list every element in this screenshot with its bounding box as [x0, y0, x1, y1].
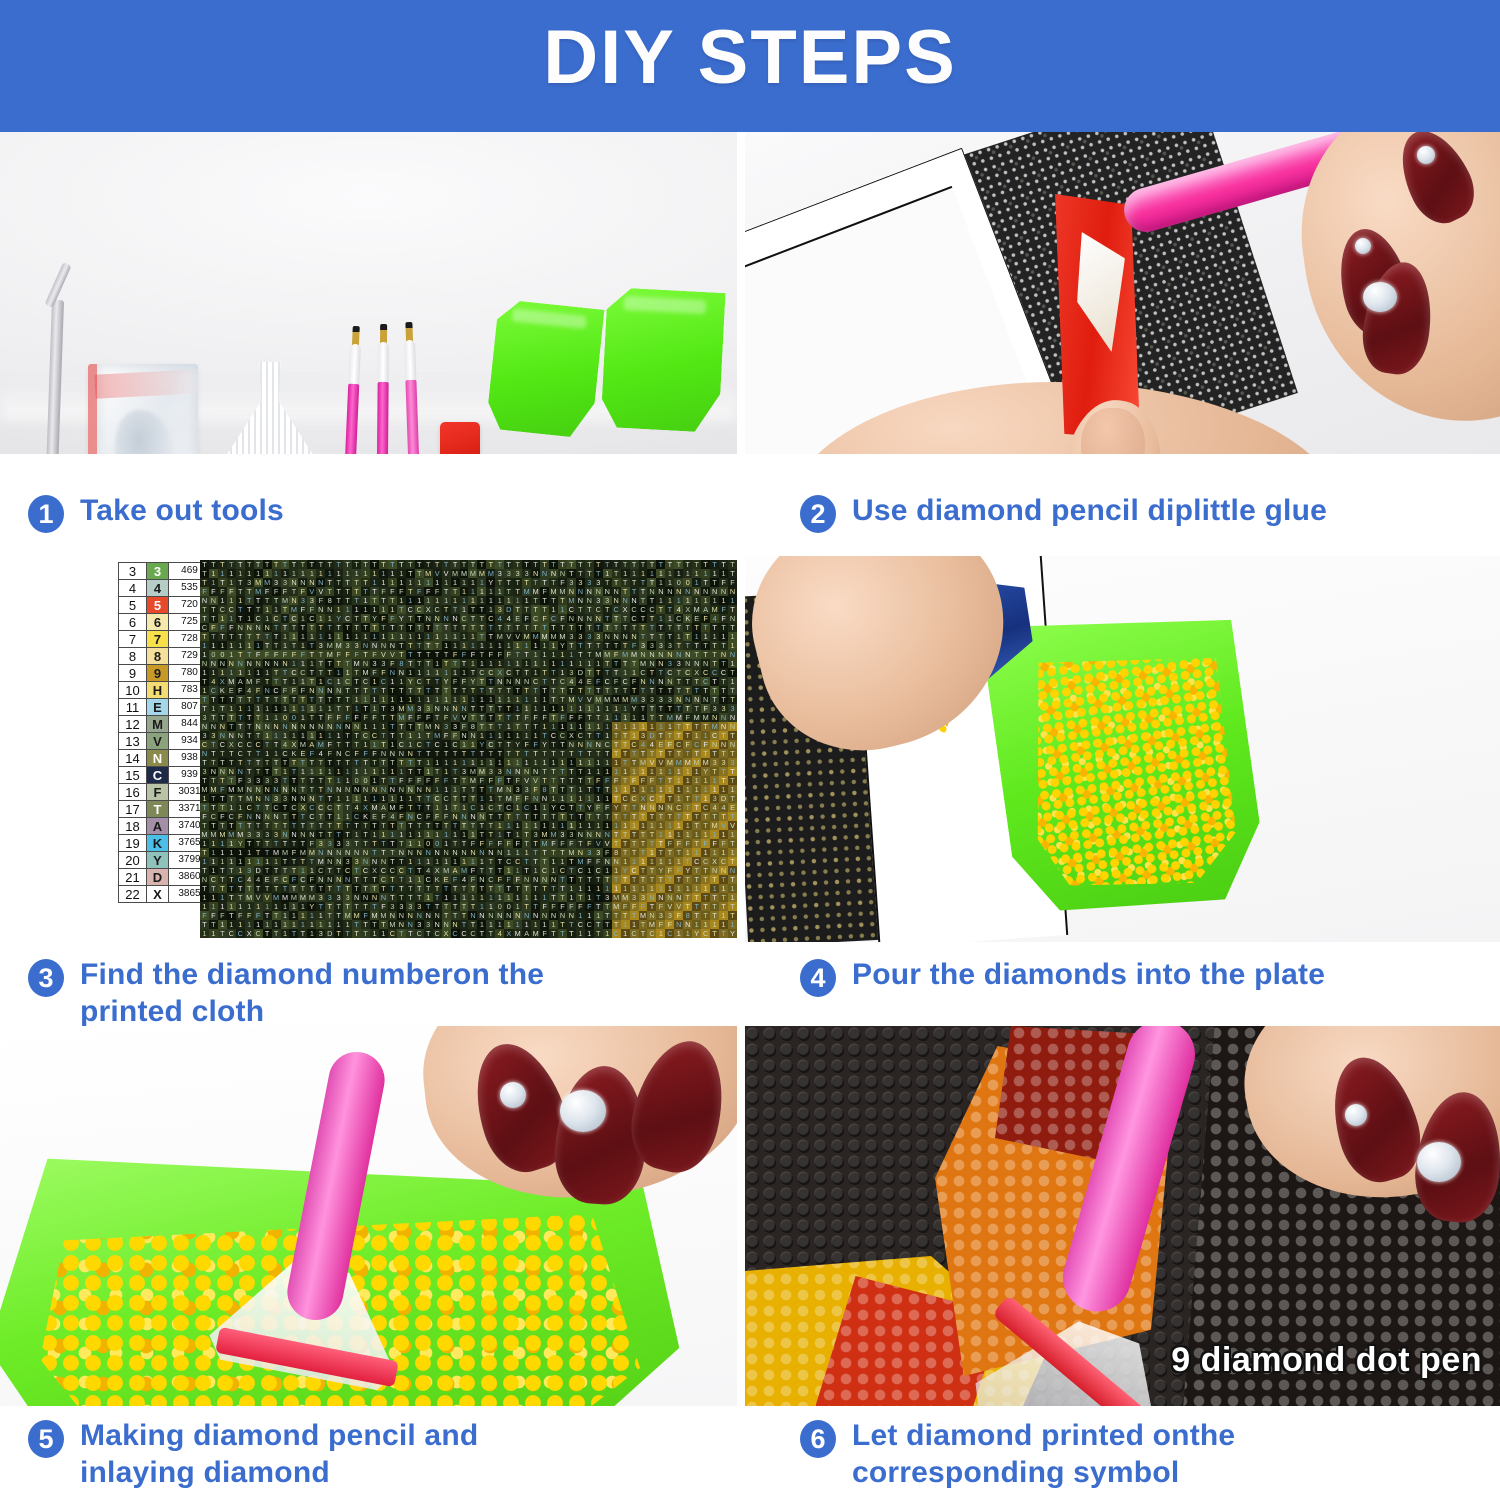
symbol-cell: F	[218, 812, 227, 821]
symbol-cell: 1	[701, 920, 710, 929]
legend-row: 88729	[119, 648, 211, 665]
symbol-cell: 3	[209, 731, 218, 740]
symbol-cell: 1	[379, 632, 388, 641]
symbol-cell: N	[263, 623, 272, 632]
symbol-cell: K	[683, 614, 692, 623]
symbol-cell: F	[665, 866, 674, 875]
symbol-cell: 1	[674, 830, 683, 839]
symbol-cell: Y	[486, 578, 495, 587]
symbol-cell: 1	[361, 695, 370, 704]
step-6-badge: 6	[800, 1420, 836, 1458]
symbol-cell: 4	[254, 875, 263, 884]
symbol-cell: T	[495, 803, 504, 812]
symbol-cell: 1	[254, 704, 263, 713]
symbol-cell: 1	[576, 911, 585, 920]
symbol-cell: C	[209, 875, 218, 884]
symbol-cell: T	[594, 569, 603, 578]
symbol-cell: M	[245, 893, 254, 902]
symbol-cell: C	[665, 929, 674, 938]
symbol-cell: T	[281, 812, 290, 821]
symbol-cell: 1	[451, 596, 460, 605]
symbol-cell: N	[647, 803, 656, 812]
symbol-cell: T	[415, 641, 424, 650]
symbol-cell: T	[495, 749, 504, 758]
symbol-cell: 1	[558, 821, 567, 830]
symbol-cell: C	[236, 929, 245, 938]
symbol-cell: T	[343, 740, 352, 749]
symbol-cell: F	[451, 731, 460, 740]
symbol-cell: 3	[567, 668, 576, 677]
symbol-cell: F	[639, 776, 648, 785]
symbol-cell: T	[728, 668, 737, 677]
symbol-cell: 1	[263, 857, 272, 866]
symbol-cell: T	[272, 884, 281, 893]
symbol-cell: T	[433, 641, 442, 650]
symbol-cell: N	[218, 659, 227, 668]
symbol-cell: 1	[334, 731, 343, 740]
symbol-cell: C	[415, 812, 424, 821]
symbol-cell: T	[379, 623, 388, 632]
symbol-cell: 1	[647, 785, 656, 794]
symbol-cell: M	[379, 911, 388, 920]
symbol-cell: N	[263, 794, 272, 803]
symbol-cell: T	[531, 686, 540, 695]
symbol-cell: C	[486, 668, 495, 677]
symbol-cell: T	[531, 596, 540, 605]
symbol-cell: F	[665, 839, 674, 848]
symbol-cell: N	[612, 596, 621, 605]
symbol-cell: T	[316, 830, 325, 839]
symbol-cell: T	[630, 578, 639, 587]
symbol-cell: 1	[415, 596, 424, 605]
symbol-cell: 1	[522, 821, 531, 830]
symbol-cell: 4	[567, 677, 576, 686]
symbol-cell: 1	[415, 632, 424, 641]
symbol-cell: T	[513, 560, 522, 569]
symbol-cell: F	[397, 812, 406, 821]
symbol-cell: N	[227, 659, 236, 668]
symbol-cell: T	[218, 578, 227, 587]
symbol-cell: 1	[352, 704, 361, 713]
symbol-cell: C	[594, 605, 603, 614]
symbol-cell: T	[647, 866, 656, 875]
symbol-cell: M	[639, 911, 648, 920]
symbol-cell: 1	[522, 596, 531, 605]
symbol-cell: T	[486, 677, 495, 686]
symbol-cell: T	[316, 884, 325, 893]
symbol-cell: F	[388, 614, 397, 623]
symbol-cell: 1	[585, 794, 594, 803]
symbol-cell: 1	[451, 758, 460, 767]
symbol-cell: 1	[719, 785, 728, 794]
symbol-cell: F	[621, 902, 630, 911]
symbol-cell: 1	[710, 920, 719, 929]
legend-index: 6	[119, 614, 147, 631]
symbol-cell: T	[486, 623, 495, 632]
symbol-cell: T	[674, 848, 683, 857]
symbol-cell: 1	[343, 794, 352, 803]
symbol-cell: T	[647, 839, 656, 848]
symbol-cell: 1	[513, 641, 522, 650]
symbol-cell: T	[612, 569, 621, 578]
symbol-cell: 3	[388, 704, 397, 713]
symbol-cell: T	[647, 830, 656, 839]
symbol-cell: T	[656, 560, 665, 569]
symbol-cell: 1	[630, 821, 639, 830]
symbol-cell: N	[263, 722, 272, 731]
symbol-cell: T	[710, 641, 719, 650]
symbol-cell: C	[289, 614, 298, 623]
symbol-cell: T	[245, 587, 254, 596]
symbol-cell: 1	[719, 596, 728, 605]
symbol-cell: 3	[603, 893, 612, 902]
symbol-cell: 1	[334, 569, 343, 578]
legend-row: 44535	[119, 580, 211, 597]
symbol-cell: C	[200, 623, 209, 632]
symbol-cell: C	[397, 740, 406, 749]
symbol-cell: 1	[379, 794, 388, 803]
symbol-cell: C	[701, 929, 710, 938]
symbol-cell: M	[370, 911, 379, 920]
symbol-cell: T	[522, 560, 531, 569]
symbol-cell: 1	[513, 803, 522, 812]
symbol-cell: M	[612, 893, 621, 902]
symbol-cell: 1	[710, 848, 719, 857]
symbol-cell: F	[415, 587, 424, 596]
symbol-cell: 1	[719, 830, 728, 839]
symbol-cell: 4	[245, 875, 254, 884]
legend-symbol-swatch: D	[147, 869, 169, 886]
symbol-cell: T	[325, 794, 334, 803]
symbol-cell: N	[325, 686, 334, 695]
symbol-cell: C	[665, 668, 674, 677]
symbol-cell: 1	[585, 722, 594, 731]
symbol-cell: T	[468, 785, 477, 794]
symbol-cell: T	[540, 686, 549, 695]
symbol-cell: T	[549, 776, 558, 785]
symbol-cell: T	[683, 902, 692, 911]
symbol-cell: N	[486, 848, 495, 857]
legend-index: 20	[119, 852, 147, 869]
symbol-cell: T	[531, 749, 540, 758]
symbol-cell: T	[513, 722, 522, 731]
symbol-cell: T	[522, 623, 531, 632]
symbol-cell: T	[710, 749, 719, 758]
symbol-cell: T	[576, 812, 585, 821]
symbol-cell: N	[486, 911, 495, 920]
symbol-cell: T	[406, 929, 415, 938]
symbol-cell: N	[468, 812, 477, 821]
symbol-cell: F	[298, 650, 307, 659]
symbol-cell: F	[236, 686, 245, 695]
symbol-cell: T	[567, 875, 576, 884]
symbol-cell: T	[513, 605, 522, 614]
symbol-cell: 1	[307, 659, 316, 668]
symbol-cell: F	[477, 839, 486, 848]
symbol-cell: T	[683, 686, 692, 695]
symbol-cell: 1	[621, 920, 630, 929]
symbol-cell: T	[272, 632, 281, 641]
symbol-cell: 1	[504, 722, 513, 731]
symbol-cell: 1	[630, 668, 639, 677]
symbol-cell: 1	[460, 596, 469, 605]
symbol-cell: T	[567, 929, 576, 938]
symbol-cell: X	[692, 668, 701, 677]
legend-symbol-swatch: A	[147, 818, 169, 835]
symbol-cell: 1	[504, 821, 513, 830]
symbol-cell: M	[433, 731, 442, 740]
symbol-cell: 1	[379, 767, 388, 776]
symbol-cell: 3	[281, 794, 290, 803]
symbol-cell: T	[263, 866, 272, 875]
symbol-cell: 1	[460, 587, 469, 596]
symbol-cell: T	[567, 623, 576, 632]
symbol-cell: T	[692, 794, 701, 803]
symbol-cell: 1	[298, 677, 307, 686]
symbol-cell: 1	[522, 704, 531, 713]
symbol-cell: N	[236, 623, 245, 632]
symbol-cell: T	[639, 839, 648, 848]
symbol-cell: T	[692, 902, 701, 911]
symbol-cell: V	[379, 650, 388, 659]
symbol-cell: N	[325, 857, 334, 866]
symbol-cell: T	[486, 830, 495, 839]
symbol-cell: 1	[361, 722, 370, 731]
symbol-cell: 1	[674, 821, 683, 830]
legend-index: 17	[119, 801, 147, 818]
symbol-cell: 3	[424, 920, 433, 929]
symbol-cell: T	[406, 623, 415, 632]
symbol-cell: 1	[424, 596, 433, 605]
symbol-cell: T	[388, 686, 397, 695]
symbol-cell: N	[442, 920, 451, 929]
symbol-cell: N	[388, 785, 397, 794]
symbol-cell: N	[424, 785, 433, 794]
symbol-cell: T	[451, 884, 460, 893]
symbol-cell: T	[236, 632, 245, 641]
symbol-cell: T	[424, 929, 433, 938]
symbol-cell: T	[603, 749, 612, 758]
symbol-cell: 1	[397, 569, 406, 578]
symbol-cell: F	[352, 650, 361, 659]
symbol-cell: T	[272, 623, 281, 632]
symbol-cell: 1	[468, 641, 477, 650]
symbol-cell: 1	[442, 641, 451, 650]
symbol-cell: T	[289, 857, 298, 866]
symbol-cell: 1	[227, 839, 236, 848]
symbol-cell: N	[254, 659, 263, 668]
symbol-cell: T	[647, 623, 656, 632]
symbol-cell: T	[424, 623, 433, 632]
step-3-badge: 3	[28, 959, 64, 997]
symbol-cell: C	[218, 605, 227, 614]
symbol-cell: T	[630, 587, 639, 596]
symbol-cell: T	[352, 587, 361, 596]
step-6-text: Let diamond printed onthe corresponding …	[852, 1418, 1235, 1491]
symbol-cell: N	[245, 659, 254, 668]
symbol-cell: C	[415, 677, 424, 686]
symbol-cell: F	[656, 902, 665, 911]
symbol-cell: N	[397, 749, 406, 758]
symbol-cell: T	[415, 866, 424, 875]
symbol-cell: T	[603, 911, 612, 920]
symbol-cell: F	[567, 902, 576, 911]
symbol-cell: N	[307, 722, 316, 731]
symbol-cell: 1	[486, 902, 495, 911]
symbol-cell: T	[558, 560, 567, 569]
symbol-cell: T	[227, 722, 236, 731]
symbol-cell: T	[433, 884, 442, 893]
symbol-cell: 1	[352, 767, 361, 776]
symbol-cell: C	[558, 731, 567, 740]
symbol-cell: C	[701, 668, 710, 677]
symbol-cell: T	[531, 839, 540, 848]
symbol-cell: M	[674, 713, 683, 722]
symbol-cell: M	[442, 866, 451, 875]
symbol-cell: 1	[656, 569, 665, 578]
symbol-cell: N	[388, 911, 397, 920]
symbol-cell: Y	[468, 677, 477, 686]
symbol-cell: M	[549, 632, 558, 641]
symbol-cell: C	[647, 929, 656, 938]
symbol-cell: M	[567, 596, 576, 605]
symbol-cell: 3	[567, 632, 576, 641]
symbol-cell: T	[397, 623, 406, 632]
symbol-cell: T	[307, 713, 316, 722]
symbol-cell: T	[558, 848, 567, 857]
symbol-cell: 3	[656, 695, 665, 704]
symbol-cell: T	[379, 758, 388, 767]
symbol-cell: 1	[504, 731, 513, 740]
symbol-cell: T	[334, 560, 343, 569]
step-1-badge: 1	[28, 495, 64, 533]
symbol-cell: F	[218, 785, 227, 794]
symbol-cell: 1	[352, 605, 361, 614]
symbol-cell: N	[683, 920, 692, 929]
symbol-cell: T	[513, 650, 522, 659]
symbol-cell: C	[567, 605, 576, 614]
symbol-cell: 1	[209, 578, 218, 587]
symbol-cell: T	[692, 893, 701, 902]
symbol-cell: N	[468, 848, 477, 857]
symbol-cell: F	[433, 812, 442, 821]
symbol-cell: T	[298, 929, 307, 938]
symbol-cell: 1	[728, 830, 737, 839]
legend-index: 10	[119, 682, 147, 699]
symbol-cell: M	[289, 605, 298, 614]
symbol-cell: N	[218, 722, 227, 731]
symbol-cell: E	[442, 875, 451, 884]
symbol-cell: T	[576, 893, 585, 902]
symbol-cell: 3	[719, 758, 728, 767]
symbol-cell: T	[460, 560, 469, 569]
symbol-cell: 1	[397, 578, 406, 587]
symbol-cell: T	[379, 713, 388, 722]
symbol-cell: N	[316, 875, 325, 884]
symbol-cell: 1	[424, 758, 433, 767]
symbol-cell: N	[289, 722, 298, 731]
symbol-cell: 1	[504, 695, 513, 704]
symbol-cell: T	[504, 830, 513, 839]
symbol-cell: N	[343, 848, 352, 857]
panel-step-5-pickup	[0, 1026, 737, 1406]
symbol-cell: 1	[621, 569, 630, 578]
legend-row: 11E807	[119, 699, 211, 716]
pink-diamond-pen-2	[376, 342, 389, 454]
symbol-cell: 1	[424, 668, 433, 677]
symbol-cell: T	[665, 605, 674, 614]
symbol-cell: T	[361, 578, 370, 587]
symbol-cell: 3	[656, 911, 665, 920]
symbol-cell: 1	[397, 794, 406, 803]
symbol-cell: 1	[272, 713, 281, 722]
symbol-cell: F	[272, 587, 281, 596]
symbol-cell: T	[272, 668, 281, 677]
symbol-cell: F	[397, 587, 406, 596]
symbol-cell: 1	[486, 587, 495, 596]
symbol-cell: T	[656, 812, 665, 821]
symbol-cell: T	[415, 794, 424, 803]
symbol-cell: T	[343, 695, 352, 704]
symbol-cell: 1	[549, 650, 558, 659]
symbol-cell: 1	[558, 650, 567, 659]
symbol-cell: T	[397, 605, 406, 614]
symbol-cell: C	[442, 794, 451, 803]
symbol-cell: N	[531, 794, 540, 803]
symbol-cell: T	[218, 776, 227, 785]
symbol-cell: T	[263, 929, 272, 938]
symbol-cell: 3	[442, 722, 451, 731]
symbol-cell: T	[298, 857, 307, 866]
symbol-cell: 1	[281, 902, 290, 911]
symbol-cell: M	[460, 569, 469, 578]
symbol-cell: T	[594, 749, 603, 758]
symbol-cell: N	[325, 875, 334, 884]
symbol-cell: T	[406, 758, 415, 767]
symbol-cell: F	[674, 839, 683, 848]
symbol-cell: T	[397, 929, 406, 938]
symbol-cell: T	[361, 614, 370, 623]
symbol-cell: T	[513, 623, 522, 632]
symbol-cell: 1	[513, 695, 522, 704]
symbol-cell: 1	[612, 704, 621, 713]
symbol-cell: N	[263, 659, 272, 668]
symbol-cell: T	[388, 560, 397, 569]
symbol-cell: 1	[674, 776, 683, 785]
symbol-cell: T	[352, 758, 361, 767]
symbol-cell: N	[612, 857, 621, 866]
symbol-cell: 1	[639, 722, 648, 731]
symbol-cell: 1	[495, 758, 504, 767]
symbol-cell: C	[451, 740, 460, 749]
symbol-cell: T	[692, 911, 701, 920]
symbol-cell: E	[656, 740, 665, 749]
symbol-cell: F	[397, 803, 406, 812]
symbol-cell: 1	[477, 857, 486, 866]
symbol-cell: T	[531, 884, 540, 893]
symbol-cell: 1	[594, 767, 603, 776]
symbol-cell: T	[683, 704, 692, 713]
symbol-cell: X	[683, 605, 692, 614]
symbol-cell: 3	[343, 893, 352, 902]
symbol-cell: 4	[460, 875, 469, 884]
symbol-cell: C	[307, 614, 316, 623]
symbol-cell: T	[227, 776, 236, 785]
symbol-cell: 1	[218, 641, 227, 650]
nail-gem	[1355, 238, 1371, 254]
symbol-cell: N	[424, 848, 433, 857]
symbol-cell: T	[343, 659, 352, 668]
